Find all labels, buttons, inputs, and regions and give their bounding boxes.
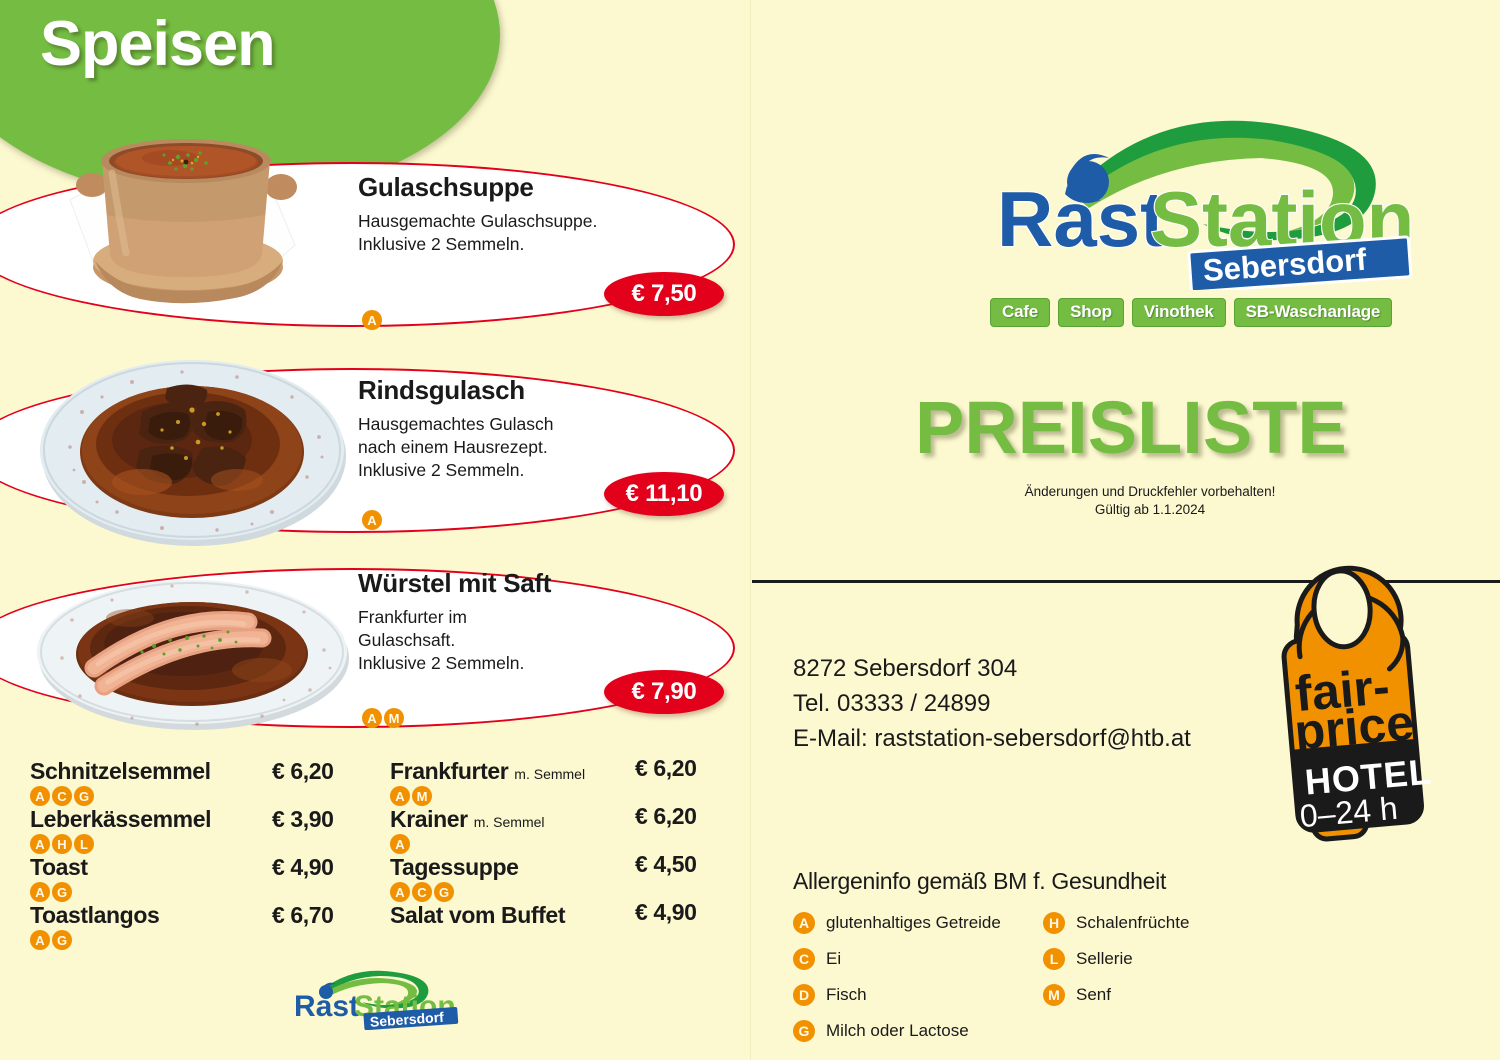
goulash-plate-photo [22, 352, 362, 547]
price-badge-wuerstel: € 7,90 [604, 670, 724, 714]
item-allergens: A C G [30, 786, 390, 806]
allergen-item: D Fisch [793, 977, 1043, 1013]
allergen-badge: A [362, 310, 382, 330]
allergen-column-right: H Schalenfrüchte L Sellerie M Senf [1043, 905, 1293, 1049]
allergen-badge: G [74, 786, 94, 806]
item-name: Frankfurter [390, 758, 508, 785]
dish-description: Frankfurter im Gulaschsaft. Inklusive 2 … [358, 606, 551, 675]
item-name: Leberkässemmel [30, 806, 211, 833]
allergen-label: Senf [1076, 985, 1111, 1005]
allergen-badge: G [52, 930, 72, 950]
allergen-item: H Schalenfrüchte [1043, 905, 1293, 941]
price-row: Schnitzelsemmel A C G € 6,20 [30, 758, 390, 806]
item-price: € 4,90 [272, 854, 334, 881]
price-row: Toast A G € 4,90 [30, 854, 390, 902]
allergen-label: glutenhaltiges Getreide [826, 913, 1001, 933]
dish-allergens-gulaschsuppe: A [362, 310, 382, 330]
price-row: Toastlangos A G € 6,70 [30, 902, 390, 950]
price-table-column-right: Frankfurter m. Semmel A M € 6,20 Krainer… [390, 758, 730, 950]
dish-description: Hausgemachte Gulaschsuppe. Inklusive 2 S… [358, 210, 597, 256]
dish-text-gulaschsuppe: Gulaschsuppe Hausgemachte Gulaschsuppe. … [358, 172, 597, 256]
service-tags: Cafe Shop Vinothek SB-Waschanlage [990, 298, 1392, 327]
hotel-tag-hours-text: 0–24 h [1298, 790, 1399, 834]
allergen-label: Fisch [826, 985, 867, 1005]
item-price: € 6,20 [272, 758, 334, 785]
item-allergens: A H L [30, 834, 390, 854]
item-name: Toastlangos [30, 902, 159, 929]
fold-line [750, 0, 751, 1060]
item-name: Schnitzelsemmel [30, 758, 211, 785]
dish-allergens-wuerstel: A M [362, 708, 404, 728]
allergen-item: C Ei [793, 941, 1043, 977]
price-badge-gulaschsuppe: € 7,50 [604, 272, 724, 316]
logo-rast-text: Rast [997, 175, 1166, 263]
disclaimer-text: Änderungen und Druckfehler vorbehalten! … [900, 483, 1400, 519]
allergen-item: G Milch oder Lactose [793, 1013, 1043, 1049]
service-tag-shop[interactable]: Shop [1058, 298, 1124, 327]
allergen-column-left: A glutenhaltiges Getreide C Ei D Fisch G… [793, 905, 1043, 1049]
item-name: Toast [30, 854, 88, 881]
allergen-badge: A [30, 930, 50, 950]
item-name: Tagessuppe [390, 854, 519, 881]
allergen-badge: A [390, 786, 410, 806]
item-price: € 6,20 [635, 803, 697, 830]
allergen-badge: L [74, 834, 94, 854]
allergen-badge: A [362, 510, 382, 530]
allergen-badge: M [412, 786, 432, 806]
allergen-label: Schalenfrüchte [1076, 913, 1189, 933]
allergen-badge: H [1043, 912, 1065, 934]
item-note: m. Semmel [514, 766, 585, 782]
item-price: € 3,90 [272, 806, 334, 833]
item-price: € 6,20 [635, 755, 697, 782]
price-badge-rindsgulasch: € 11,10 [604, 472, 724, 516]
allergen-badge: D [793, 984, 815, 1006]
price-row: Leberkässemmel A H L € 3,90 [30, 806, 390, 854]
preisliste-title: PREISLISTE [915, 385, 1347, 470]
allergen-label: Sellerie [1076, 949, 1133, 969]
allergen-badge: M [1043, 984, 1065, 1006]
allergen-item: A glutenhaltiges Getreide [793, 905, 1043, 941]
soup-pot-photo [40, 125, 330, 315]
service-tag-waschanlage[interactable]: SB-Waschanlage [1234, 298, 1393, 327]
dish-text-rindsgulasch: Rindsgulasch Hausgemachtes Gulasch nach … [358, 375, 554, 482]
fair-price-hotel-tag: fair- price HOTEL 0–24 h [1245, 528, 1465, 850]
allergen-badge: C [52, 786, 72, 806]
dish-name: Gulaschsuppe [358, 172, 597, 203]
hotel-tag-price-text: price [1292, 694, 1416, 760]
price-row: Frankfurter m. Semmel A M € 6,20 [390, 758, 730, 806]
dish-name: Würstel mit Saft [358, 568, 551, 599]
raststation-logo-main: Rast Station Sebersdorf [975, 120, 1445, 290]
allergen-badge: A [30, 786, 50, 806]
item-name: Salat vom Buffet [390, 902, 565, 929]
item-price: € 6,70 [272, 902, 334, 929]
allergen-badge: A [30, 882, 50, 902]
item-note: m. Semmel [474, 814, 545, 830]
price-list-page: Speisen [0, 0, 1500, 1060]
dish-name: Rindsgulasch [358, 375, 554, 406]
service-tag-vinothek[interactable]: Vinothek [1132, 298, 1226, 327]
allergen-badge: C [412, 882, 432, 902]
allergen-info-title: Allergeninfo gemäß BM f. Gesundheit [793, 868, 1293, 895]
item-allergens: A G [30, 882, 390, 902]
dish-text-wuerstel: Würstel mit Saft Frankfurter im Gulaschs… [358, 568, 551, 675]
allergen-badge: A [362, 708, 382, 728]
allergen-badge: A [390, 834, 410, 854]
allergen-badge: H [52, 834, 72, 854]
dish-allergens-rindsgulasch: A [362, 510, 382, 530]
allergen-item: M Senf [1043, 977, 1293, 1013]
price-row: Tagessuppe A C G € 4,50 [390, 854, 730, 902]
item-price: € 4,90 [635, 899, 697, 926]
allergen-badge: G [793, 1020, 815, 1042]
contact-info: 8272 Sebersdorf 304 Tel. 03333 / 24899 E… [793, 652, 1191, 756]
page-title: Speisen [40, 8, 275, 80]
price-row: Krainer m. Semmel A € 6,20 [390, 806, 730, 854]
allergen-badge: A [390, 882, 410, 902]
allergen-badge: L [1043, 948, 1065, 970]
allergen-badge: A [30, 834, 50, 854]
price-table-column-left: Schnitzelsemmel A C G € 6,20 Leberkässem… [30, 758, 390, 950]
allergen-badge: G [434, 882, 454, 902]
price-table: Schnitzelsemmel A C G € 6,20 Leberkässem… [30, 758, 730, 950]
allergen-badge: G [52, 882, 72, 902]
item-name: Krainer [390, 806, 468, 833]
sausage-plate-photo [22, 572, 362, 732]
allergen-label: Ei [826, 949, 841, 969]
allergen-info-section: Allergeninfo gemäß BM f. Gesundheit A gl… [793, 868, 1293, 1049]
item-price: € 4,50 [635, 851, 697, 878]
allergen-badge: C [793, 948, 815, 970]
raststation-logo-small: Rast Station Sebersdorf [282, 968, 470, 1030]
dish-description: Hausgemachtes Gulasch nach einem Hausrez… [358, 413, 554, 482]
service-tag-cafe[interactable]: Cafe [990, 298, 1050, 327]
allergen-label: Milch oder Lactose [826, 1021, 969, 1041]
logo-rast-text: Rast [294, 990, 359, 1023]
allergen-item: L Sellerie [1043, 941, 1293, 977]
price-row: Salat vom Buffet € 4,90 [390, 902, 730, 950]
allergen-badge: M [384, 708, 404, 728]
allergen-badge: A [793, 912, 815, 934]
item-allergens: A G [30, 930, 390, 950]
